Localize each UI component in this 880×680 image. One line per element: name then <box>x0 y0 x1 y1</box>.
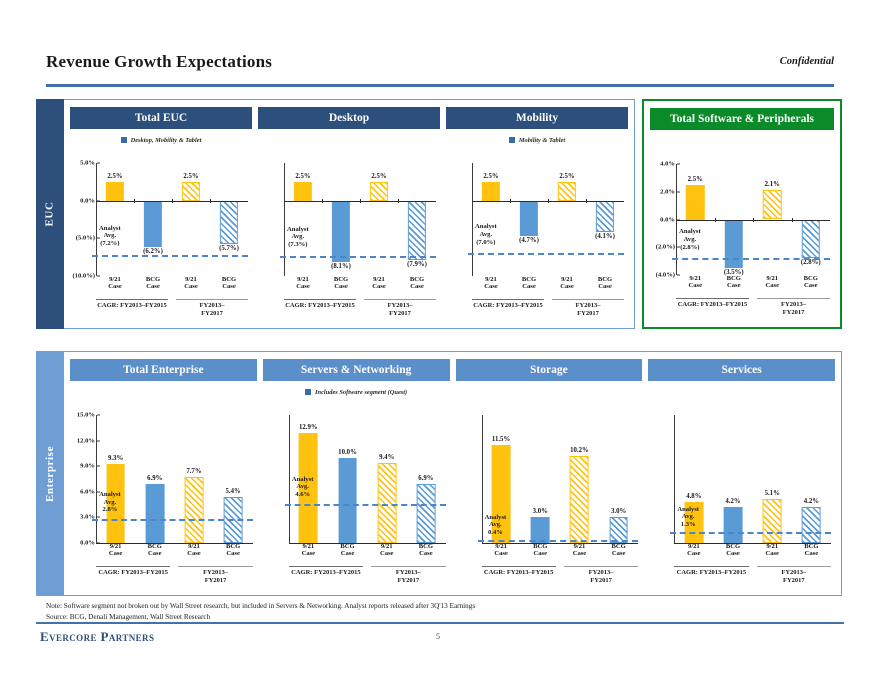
analyst-average-label: AnalystAvg.(7.2%) <box>99 225 121 248</box>
panel-title-servers-networking: Servers & Networking <box>263 359 450 381</box>
analyst-average-label: AnalystAvg.0.4% <box>485 514 507 537</box>
chart-total-enterprise: 15.0%12.0%9.0%6.0%3.0%0.0%9.3%6.9%7.7%5.… <box>70 401 257 589</box>
bar-value-label: 6.9% <box>418 475 433 482</box>
group-rule <box>371 566 445 567</box>
bar-slot: 2.5% <box>96 163 134 276</box>
x-tick-label: BCGCase <box>599 543 638 563</box>
legend-swatch-icon <box>305 389 311 395</box>
group-label: CAGR: FY2013–FY2015 <box>472 302 544 309</box>
group-rule <box>289 566 363 567</box>
bar-value-label: 10.0% <box>338 449 357 456</box>
bar-9-21-case-2 <box>370 182 388 201</box>
analyst-average-label: AnalystAvg.(7.0%) <box>475 223 497 246</box>
bar-bcg-case-1 <box>144 201 162 248</box>
plot-area-desktop: 2.5%(8.1%)2.5%(7.9%)AnalystAvg.(7.3%) <box>284 163 436 276</box>
x-axis-group: CAGR: FY2013–FY2015 <box>674 566 748 584</box>
x-axis-group: FY2013– FY2017 <box>757 298 830 316</box>
group-label: FY2013– FY2017 <box>552 302 624 317</box>
chart-panel-mobility: MobilityMobility & Tablet2.5%(4.7%)2.5%(… <box>446 107 628 322</box>
x-tick-label: BCGCase <box>406 543 445 563</box>
plot-area-storage: 11.5%3.0%10.2%3.0%AnalystAvg.0.4% <box>482 415 639 543</box>
bar-value-label: 2.5% <box>183 173 198 180</box>
bar-bcg-case-1 <box>520 201 538 236</box>
y-tick-label: 0.0% <box>80 540 95 547</box>
bar-bcg-case-1 <box>725 220 743 269</box>
x-tick-label: BCGCase <box>792 275 831 295</box>
bar-value-label: (2.8%) <box>801 259 821 266</box>
bar-value-label: 3.0% <box>611 508 626 515</box>
analyst-average-line <box>285 504 446 506</box>
bar-value-label: 9.3% <box>108 455 123 462</box>
chart-desktop: 2.5%(8.1%)2.5%(7.9%)AnalystAvg.(7.3%)9/2… <box>258 149 440 322</box>
bar-slot: 10.2% <box>560 415 599 543</box>
y-tick-label: 5.0% <box>80 160 95 167</box>
x-tick-label: 9/21Case <box>96 276 134 296</box>
plot-area-total-enterprise: 9.3%6.9%7.7%5.4%AnalystAvg.2.8% <box>96 415 253 543</box>
bar-bcg-case-3 <box>802 507 821 543</box>
y-tick-label: 4.0% <box>660 161 675 168</box>
x-axis-group: FY2013– FY2017 <box>757 566 831 584</box>
group-label: CAGR: FY2013–FY2015 <box>482 569 556 576</box>
x-tick-label: 9/21Case <box>560 543 599 563</box>
bar-series: 2.5%(4.7%)2.5%(4.1%) <box>472 163 624 276</box>
x-axis-group: CAGR: FY2013–FY2015 <box>96 299 168 317</box>
group-rule <box>757 298 830 299</box>
x-axis-group: FY2013– FY2017 <box>176 299 248 317</box>
bar-value-label: 2.5% <box>483 173 498 180</box>
group-label: FY2013– FY2017 <box>364 302 436 317</box>
x-tick-label: 9/21Case <box>482 543 521 563</box>
zero-tick-mark <box>210 199 211 203</box>
legend-label: Desktop, Mobility & Tablet <box>131 137 202 144</box>
bar-bcg-case-3 <box>802 220 820 259</box>
bar-9-21-case-2 <box>182 182 200 201</box>
bar-bcg-case-1 <box>338 458 357 543</box>
panel-title-desktop: Desktop <box>258 107 440 129</box>
bar-slot: 5.1% <box>753 415 792 543</box>
x-axis-group: FY2013– FY2017 <box>178 566 252 584</box>
x-tick-label: 9/21Case <box>548 276 586 296</box>
group-label: CAGR: FY2013–FY2015 <box>96 569 170 576</box>
group-rule <box>364 299 436 300</box>
group-label: CAGR: FY2013–FY2015 <box>96 302 168 309</box>
chart-total-euc: 5.0%0.0%(5.0%)(10.0%)2.5%(6.2%)2.5%(5.7%… <box>70 149 252 322</box>
y-tick-label: 2.0% <box>660 188 675 195</box>
group-rule <box>674 566 748 567</box>
x-tick-label: 9/21Case <box>360 276 398 296</box>
group-label: FY2013– FY2017 <box>371 569 445 584</box>
zero-tick-mark <box>398 199 399 203</box>
bar-9-21-case-0 <box>482 182 500 201</box>
bar-slot: 9.4% <box>367 415 406 543</box>
x-tick-label: BCGCase <box>715 275 754 295</box>
bar-slot: 2.5% <box>472 163 510 276</box>
x-axis-group: CAGR: FY2013–FY2015 <box>482 566 556 584</box>
chart-services: 4.8%4.2%5.1%4.2%AnalystAvg.1.3%9/21CaseB… <box>648 401 835 589</box>
legend-label: Includes Software segment (Quest) <box>315 389 407 396</box>
x-tick-label: 9/21Case <box>753 543 792 563</box>
x-tick-label: 9/21Case <box>472 276 510 296</box>
bar-slot: (8.1%) <box>322 163 360 276</box>
analyst-average-label: AnalystAvg.4.6% <box>292 476 314 499</box>
analyst-average-label: AnalystAvg.2.8% <box>99 491 121 514</box>
page-title: Revenue Growth Expectations <box>46 52 834 72</box>
legend-swatch-icon <box>509 137 515 143</box>
analyst-average-label: AnalystAvg.(2.8%) <box>679 228 701 251</box>
bar-value-label: (8.1%) <box>331 263 351 270</box>
bar-bcg-case-3 <box>596 201 614 232</box>
bar-value-label: 12.9% <box>299 424 318 431</box>
legend-label: Mobility & Tablet <box>519 137 565 144</box>
zero-tick-mark <box>548 199 549 203</box>
bar-value-label: 4.2% <box>725 498 740 505</box>
bar-9-21-case-2 <box>763 499 782 543</box>
bar-9-21-case-2 <box>763 190 781 219</box>
x-axis-group: FY2013– FY2017 <box>552 299 624 317</box>
header-divider <box>46 84 834 87</box>
bar-slot: 7.7% <box>174 415 213 543</box>
bar-value-label: 9.4% <box>379 454 394 461</box>
group-rule <box>472 299 544 300</box>
group-label: FY2013– FY2017 <box>564 569 638 584</box>
chart-total-software-peripherals: 4.0%2.0%0.0%(2.0%)(4.0%)2.5%(3.5%)2.1%(2… <box>650 150 834 321</box>
panel-title-total-euc: Total EUC <box>70 107 252 129</box>
chart-legend-total-euc: Desktop, Mobility & Tablet <box>70 133 252 147</box>
group-label: CAGR: FY2013–FY2015 <box>289 569 363 576</box>
footnote-note: Note: Software segment not broken out by… <box>46 601 746 612</box>
bar-value-label: 5.1% <box>765 490 780 497</box>
bar-value-label: 2.1% <box>765 181 780 188</box>
chart-panel-servers-networking: Servers & NetworkingIncludes Software se… <box>263 359 450 589</box>
group-label: FY2013– FY2017 <box>757 301 830 316</box>
bar-9-21-case-2 <box>558 182 576 201</box>
analyst-average-line <box>670 532 831 534</box>
group-rule <box>176 299 248 300</box>
bar-slot: 6.9% <box>135 415 174 543</box>
chart-panel-total-software-peripherals: Total Software & Peripherals4.0%2.0%0.0%… <box>650 108 834 321</box>
confidential-marker: Confidential <box>780 56 834 67</box>
bar-value-label: 4.8% <box>686 493 701 500</box>
enterprise-band: Enterprise Total Enterprise15.0%12.0%9.0… <box>36 351 842 596</box>
euc-panel-group: Total EUCDesktop, Mobility & Tablet5.0%0… <box>64 99 635 329</box>
x-tick-label: 9/21Case <box>676 275 715 295</box>
panel-title-total-software-peripherals: Total Software & Peripherals <box>650 108 834 130</box>
zero-tick-mark <box>715 218 716 222</box>
bar-value-label: 2.5% <box>688 176 703 183</box>
x-tick-label: 9/21Case <box>674 543 713 563</box>
chart-panel-storage: Storage11.5%3.0%10.2%3.0%AnalystAvg.0.4%… <box>456 359 643 589</box>
footnotes: Note: Software segment not broken out by… <box>46 601 746 623</box>
brand-logo: Evercore Partners <box>40 629 154 645</box>
bar-value-label: 10.2% <box>570 447 589 454</box>
x-axis-total-enterprise: 9/21CaseBCGCase9/21CaseBCGCaseCAGR: FY20… <box>96 543 253 589</box>
bar-slot: 10.0% <box>328 415 367 543</box>
y-tick-label: 9.0% <box>80 463 95 470</box>
x-axis-group: CAGR: FY2013–FY2015 <box>284 299 356 317</box>
group-label: FY2013– FY2017 <box>178 569 252 584</box>
chart-servers-networking: 12.9%10.0%9.4%6.9%AnalystAvg.4.6%9/21Cas… <box>263 401 450 589</box>
bar-value-label: (4.7%) <box>519 237 539 244</box>
group-rule <box>96 566 170 567</box>
x-tick-label: BCGCase <box>322 276 360 296</box>
plot-area-total-euc: 2.5%(6.2%)2.5%(5.7%)AnalystAvg.(7.2%) <box>96 163 248 276</box>
x-tick-label: BCGCase <box>521 543 560 563</box>
y-tick-label: 0.0% <box>660 216 675 223</box>
panel-title-services: Services <box>648 359 835 381</box>
zero-tick-mark <box>510 199 511 203</box>
analyst-average-line <box>468 253 624 255</box>
bar-slot: 3.0% <box>521 415 560 543</box>
panel-title-total-enterprise: Total Enterprise <box>70 359 257 381</box>
band-label-enterprise-text: Enterprise <box>44 445 56 501</box>
x-axis-storage: 9/21CaseBCGCase9/21CaseBCGCaseCAGR: FY20… <box>482 543 639 589</box>
y-tick-label: 15.0% <box>77 412 95 419</box>
bar-series: 2.5%(8.1%)2.5%(7.9%) <box>284 163 436 276</box>
x-tick-label: 9/21Case <box>172 276 210 296</box>
chart-panel-total-enterprise: Total Enterprise15.0%12.0%9.0%6.0%3.0%0.… <box>70 359 257 589</box>
bar-value-label: 2.5% <box>371 173 386 180</box>
bar-slot: (4.7%) <box>510 163 548 276</box>
zero-tick-mark <box>586 199 587 203</box>
x-tick-label: BCGCase <box>510 276 548 296</box>
footer-divider <box>36 622 844 624</box>
plot-area-services: 4.8%4.2%5.1%4.2%AnalystAvg.1.3% <box>674 415 831 543</box>
group-rule <box>676 298 749 299</box>
x-axis-group: CAGR: FY2013–FY2015 <box>96 566 170 584</box>
band-label-enterprise: Enterprise <box>36 351 64 596</box>
x-axis-services: 9/21CaseBCGCase9/21CaseBCGCaseCAGR: FY20… <box>674 543 831 589</box>
x-tick-label: BCGCase <box>214 543 253 563</box>
bar-bcg-case-3 <box>417 484 436 543</box>
bar-value-label: 4.2% <box>804 498 819 505</box>
bar-bcg-case-1 <box>724 507 743 543</box>
x-tick-label: BCGCase <box>398 276 436 296</box>
bar-value-label: 7.7% <box>186 468 201 475</box>
bar-value-label: 6.9% <box>147 475 162 482</box>
panel-title-mobility: Mobility <box>446 107 628 129</box>
bar-value-label: 5.4% <box>226 488 241 495</box>
bar-bcg-case-3 <box>408 201 426 261</box>
slide-header: Revenue Growth Expectations Confidential <box>46 52 834 88</box>
x-tick-label: 9/21Case <box>289 543 328 563</box>
bar-9-21-case-0 <box>106 182 124 201</box>
x-tick-label: 9/21Case <box>284 276 322 296</box>
x-axis-group: CAGR: FY2013–FY2015 <box>676 298 749 316</box>
y-tick-label: (10.0%) <box>72 273 95 280</box>
bar-slot: 2.5% <box>548 163 586 276</box>
zero-tick-mark <box>134 199 135 203</box>
zero-tick-mark <box>792 218 793 222</box>
x-tick-label: BCGCase <box>134 276 172 296</box>
group-rule <box>482 566 556 567</box>
group-label: CAGR: FY2013–FY2015 <box>676 301 749 308</box>
bar-bcg-case-3 <box>220 201 238 244</box>
chart-storage: 11.5%3.0%10.2%3.0%AnalystAvg.0.4%9/21Cas… <box>456 401 643 589</box>
plot-area-total-software-peripherals: 2.5%(3.5%)2.1%(2.8%)AnalystAvg.(2.8%) <box>676 164 830 275</box>
x-axis-group: CAGR: FY2013–FY2015 <box>472 299 544 317</box>
x-axis-group: CAGR: FY2013–FY2015 <box>289 566 363 584</box>
bar-slot: 4.2% <box>713 415 752 543</box>
group-rule <box>757 566 831 567</box>
bar-9-21-case-0 <box>294 182 312 201</box>
plot-area-servers-networking: 12.9%10.0%9.4%6.9%AnalystAvg.4.6% <box>289 415 446 543</box>
x-axis-group: FY2013– FY2017 <box>364 299 436 317</box>
bar-slot: (5.7%) <box>210 163 248 276</box>
zero-tick-mark <box>753 218 754 222</box>
bar-value-label: (5.7%) <box>219 245 239 252</box>
y-tick-label: (2.0%) <box>656 244 675 251</box>
y-tick-label: 12.0% <box>77 437 95 444</box>
enterprise-panel-group: Total Enterprise15.0%12.0%9.0%6.0%3.0%0.… <box>64 351 842 596</box>
x-tick-label: BCGCase <box>713 543 752 563</box>
zero-tick-mark <box>322 199 323 203</box>
x-tick-label: BCGCase <box>210 276 248 296</box>
legend-swatch-icon <box>121 137 127 143</box>
x-tick-label: BCGCase <box>135 543 174 563</box>
group-rule <box>552 299 624 300</box>
analyst-average-line <box>478 540 639 542</box>
analyst-average-label: AnalystAvg.(7.3%) <box>287 226 309 249</box>
bar-value-label: 3.0% <box>533 508 548 515</box>
group-rule <box>284 299 356 300</box>
chart-mobility: 2.5%(4.7%)2.5%(4.1%)AnalystAvg.(7.0%)9/2… <box>446 149 628 322</box>
bar-slot: (4.1%) <box>586 163 624 276</box>
group-label: CAGR: FY2013–FY2015 <box>284 302 356 309</box>
y-tick-label: 0.0% <box>80 197 95 204</box>
bar-series: 9.3%6.9%7.7%5.4% <box>96 415 253 543</box>
bar-slot: 2.5% <box>172 163 210 276</box>
group-label: CAGR: FY2013–FY2015 <box>674 569 748 576</box>
x-tick-label: BCGCase <box>792 543 831 563</box>
chart-panel-total-euc: Total EUCDesktop, Mobility & Tablet5.0%0… <box>70 107 252 322</box>
bar-bcg-case-1 <box>145 484 164 543</box>
group-rule <box>96 299 168 300</box>
bar-value-label: 2.5% <box>107 173 122 180</box>
panel-title-storage: Storage <box>456 359 643 381</box>
group-label: FY2013– FY2017 <box>757 569 831 584</box>
analyst-average-line <box>92 519 253 521</box>
chart-panel-services: Services4.8%4.2%5.1%4.2%AnalystAvg.1.3%9… <box>648 359 835 589</box>
bar-slot: (7.9%) <box>398 163 436 276</box>
x-axis-servers-networking: 9/21CaseBCGCase9/21CaseBCGCaseCAGR: FY20… <box>289 543 446 589</box>
band-label-euc: EUC <box>36 99 64 329</box>
plot-area-mobility: 2.5%(4.7%)2.5%(4.1%)AnalystAvg.(7.0%) <box>472 163 624 276</box>
x-axis-desktop: 9/21CaseBCGCase9/21CaseBCGCaseCAGR: FY20… <box>284 276 436 322</box>
bar-slot: 2.5% <box>284 163 322 276</box>
bar-value-label: (4.1%) <box>595 233 615 240</box>
y-tick-label: 6.0% <box>80 488 95 495</box>
bar-9-21-case-2 <box>185 477 204 543</box>
chart-panel-desktop: Desktop2.5%(8.1%)2.5%(7.9%)AnalystAvg.(7… <box>258 107 440 322</box>
footnote-source: Source: BCG, Denali Management, Wall Str… <box>46 612 746 623</box>
bar-slot: 9.3% <box>96 415 135 543</box>
x-tick-label: 9/21Case <box>753 275 792 295</box>
bar-series: 2.5%(6.2%)2.5%(5.7%) <box>96 163 248 276</box>
chart-legend-mobility: Mobility & Tablet <box>446 133 628 147</box>
zero-tick-mark <box>360 199 361 203</box>
analyst-average-line <box>92 255 248 257</box>
zero-tick-mark <box>172 199 173 203</box>
bar-value-label: 2.5% <box>559 173 574 180</box>
bar-9-21-case-2 <box>570 456 589 543</box>
bar-slot: 3.0% <box>599 415 638 543</box>
x-axis-group: FY2013– FY2017 <box>371 566 445 584</box>
bar-slot: 4.2% <box>792 415 831 543</box>
bar-value-label: (7.9%) <box>407 261 427 268</box>
x-axis-group: FY2013– FY2017 <box>564 566 638 584</box>
y-tick-label: (5.0%) <box>76 235 95 242</box>
bar-slot: 5.4% <box>214 415 253 543</box>
y-tick-label: (4.0%) <box>656 272 675 279</box>
bar-value-label: 11.5% <box>492 436 510 443</box>
x-axis-total-software-peripherals: 9/21CaseBCGCase9/21CaseBCGCaseCAGR: FY20… <box>676 275 830 321</box>
software-peripherals-panel-group: Total Software & Peripherals4.0%2.0%0.0%… <box>642 99 842 329</box>
chart-legend-servers-networking: Includes Software segment (Quest) <box>263 385 450 399</box>
x-axis-mobility: 9/21CaseBCGCase9/21CaseBCGCaseCAGR: FY20… <box>472 276 624 322</box>
bar-value-label: 2.5% <box>295 173 310 180</box>
group-rule <box>564 566 638 567</box>
bar-bcg-case-1 <box>332 201 350 262</box>
band-label-euc-text: EUC <box>44 201 56 226</box>
bar-9-21-case-0 <box>686 185 704 220</box>
x-axis-total-euc: 9/21CaseBCGCase9/21CaseBCGCaseCAGR: FY20… <box>96 276 248 322</box>
page-number: 5 <box>436 632 440 641</box>
x-tick-label: BCGCase <box>328 543 367 563</box>
analyst-average-line <box>672 258 830 260</box>
group-rule <box>178 566 252 567</box>
analyst-average-label: AnalystAvg.1.3% <box>677 506 699 529</box>
bar-slot: 6.9% <box>406 415 445 543</box>
x-tick-label: 9/21Case <box>174 543 213 563</box>
bar-slot: (6.2%) <box>134 163 172 276</box>
euc-band: EUC Total EUCDesktop, Mobility & Tablet5… <box>36 99 842 329</box>
group-label: FY2013– FY2017 <box>176 302 248 317</box>
bar-slot: 2.5% <box>360 163 398 276</box>
x-tick-label: 9/21Case <box>367 543 406 563</box>
x-tick-label: 9/21Case <box>96 543 135 563</box>
x-tick-label: BCGCase <box>586 276 624 296</box>
analyst-average-line <box>280 256 436 258</box>
